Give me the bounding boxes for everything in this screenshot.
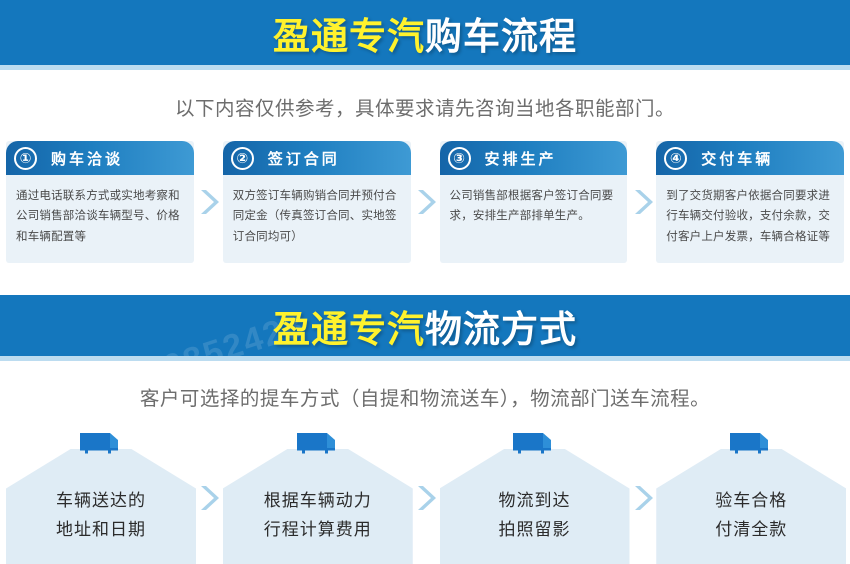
step-title: 交付车辆 <box>701 148 773 169</box>
step-card-header: ③ 安排生产 <box>440 141 628 175</box>
truck-icon <box>295 431 339 460</box>
step-body-text: 通过电话联系方式或实地考察和公司销售部洽谈车辆型号、价格和车辆配置等 <box>6 175 194 255</box>
section2-banner-title: 盈通专汽物流方式 <box>273 299 577 353</box>
step-number-badge: ③ <box>448 147 471 170</box>
infographic-page: 13886852428 13886852428 13886852428 1388… <box>0 0 850 564</box>
chevron-right-icon <box>627 141 656 263</box>
step-card-header: ② 签订合同 <box>223 141 411 175</box>
truck-icon <box>511 431 555 460</box>
logistics-line-2: 付清全款 <box>715 516 787 545</box>
section1-banner-subject: 购车流程 <box>425 16 577 57</box>
section2-banner: 13886852428 13886852428 13886852428 1388… <box>0 295 850 361</box>
section1-banner: 13886852428 13886852428 13886852428 1388… <box>0 0 850 70</box>
step-title: 安排生产 <box>485 148 557 169</box>
step-title: 购车洽谈 <box>51 148 123 169</box>
step-card-header: ④ 交付车辆 <box>656 141 844 175</box>
logistics-steps-row: 车辆送达的 地址和日期 根据车辆动力 行程计算费用 <box>0 431 850 564</box>
section2-subtitle: 客户可选择的提车方式（自提和物流送车），物流部门送车流程。 <box>0 361 850 431</box>
truck-icon <box>728 431 772 460</box>
logistics-line-2: 行程计算费用 <box>264 516 372 545</box>
step-number-badge: ② <box>231 147 254 170</box>
step-card[interactable]: ④ 交付车辆 到了交货期客户依据合同要求进行车辆交付验收，支付余款，交付客户上户… <box>656 141 844 263</box>
section2-banner-subject: 物流方式 <box>425 309 577 350</box>
logistics-card: 物流到达 拍照留影 <box>440 449 630 564</box>
chevron-right-icon <box>194 141 223 263</box>
purchase-steps-row: ① 购车洽谈 通过电话联系方式或实地考察和公司销售部洽谈车辆型号、价格和车辆配置… <box>0 141 850 263</box>
logistics-line-1: 根据车辆动力 <box>264 487 372 516</box>
chevron-right-icon <box>627 431 656 564</box>
chevron-right-icon <box>411 141 440 263</box>
chevron-right-icon <box>411 431 440 564</box>
logistics-step[interactable]: 车辆送达的 地址和日期 <box>6 431 194 564</box>
logistics-line-1: 验车合格 <box>715 487 787 516</box>
step-card[interactable]: ② 签订合同 双方签订车辆购销合同并预付合同定金（传真签订合同、实地签订合同均可… <box>223 141 411 263</box>
logistics-line-2: 拍照留影 <box>499 516 571 545</box>
logistics-step[interactable]: 物流到达 拍照留影 <box>440 431 628 564</box>
step-card-header: ① 购车洽谈 <box>6 141 194 175</box>
logistics-line-1: 物流到达 <box>499 487 571 516</box>
step-body-text: 公司销售部根据客户签订合同要求，安排生产部排单生产。 <box>440 175 628 235</box>
step-card[interactable]: ① 购车洽谈 通过电话联系方式或实地考察和公司销售部洽谈车辆型号、价格和车辆配置… <box>6 141 194 263</box>
step-title: 签订合同 <box>268 148 340 169</box>
section1-subtitle: 以下内容仅供参考，具体要求请先咨询当地各职能部门。 <box>0 70 850 141</box>
step-number-badge: ④ <box>664 147 687 170</box>
logistics-card: 根据车辆动力 行程计算费用 <box>223 449 413 564</box>
step-card[interactable]: ③ 安排生产 公司销售部根据客户签订合同要求，安排生产部排单生产。 <box>440 141 628 263</box>
brand-name: 盈通专汽 <box>273 309 425 350</box>
logistics-step[interactable]: 根据车辆动力 行程计算费用 <box>223 431 411 564</box>
brand-name: 盈通专汽 <box>273 16 425 57</box>
logistics-card: 车辆送达的 地址和日期 <box>6 449 196 564</box>
step-number-badge: ① <box>14 147 37 170</box>
logistics-card: 验车合格 付清全款 <box>656 449 846 564</box>
step-body-text: 双方签订车辆购销合同并预付合同定金（传真签订合同、实地签订合同均可） <box>223 175 411 255</box>
step-body-text: 到了交货期客户依据合同要求进行车辆交付验收，支付余款，交付客户上户发票，车辆合格… <box>656 175 844 255</box>
section1-banner-title: 盈通专汽购车流程 <box>273 6 577 60</box>
logistics-step[interactable]: 验车合格 付清全款 <box>656 431 844 564</box>
logistics-line-1: 车辆送达的 <box>56 487 146 516</box>
chevron-right-icon <box>194 431 223 564</box>
truck-icon <box>78 431 122 460</box>
logistics-line-2: 地址和日期 <box>56 516 146 545</box>
